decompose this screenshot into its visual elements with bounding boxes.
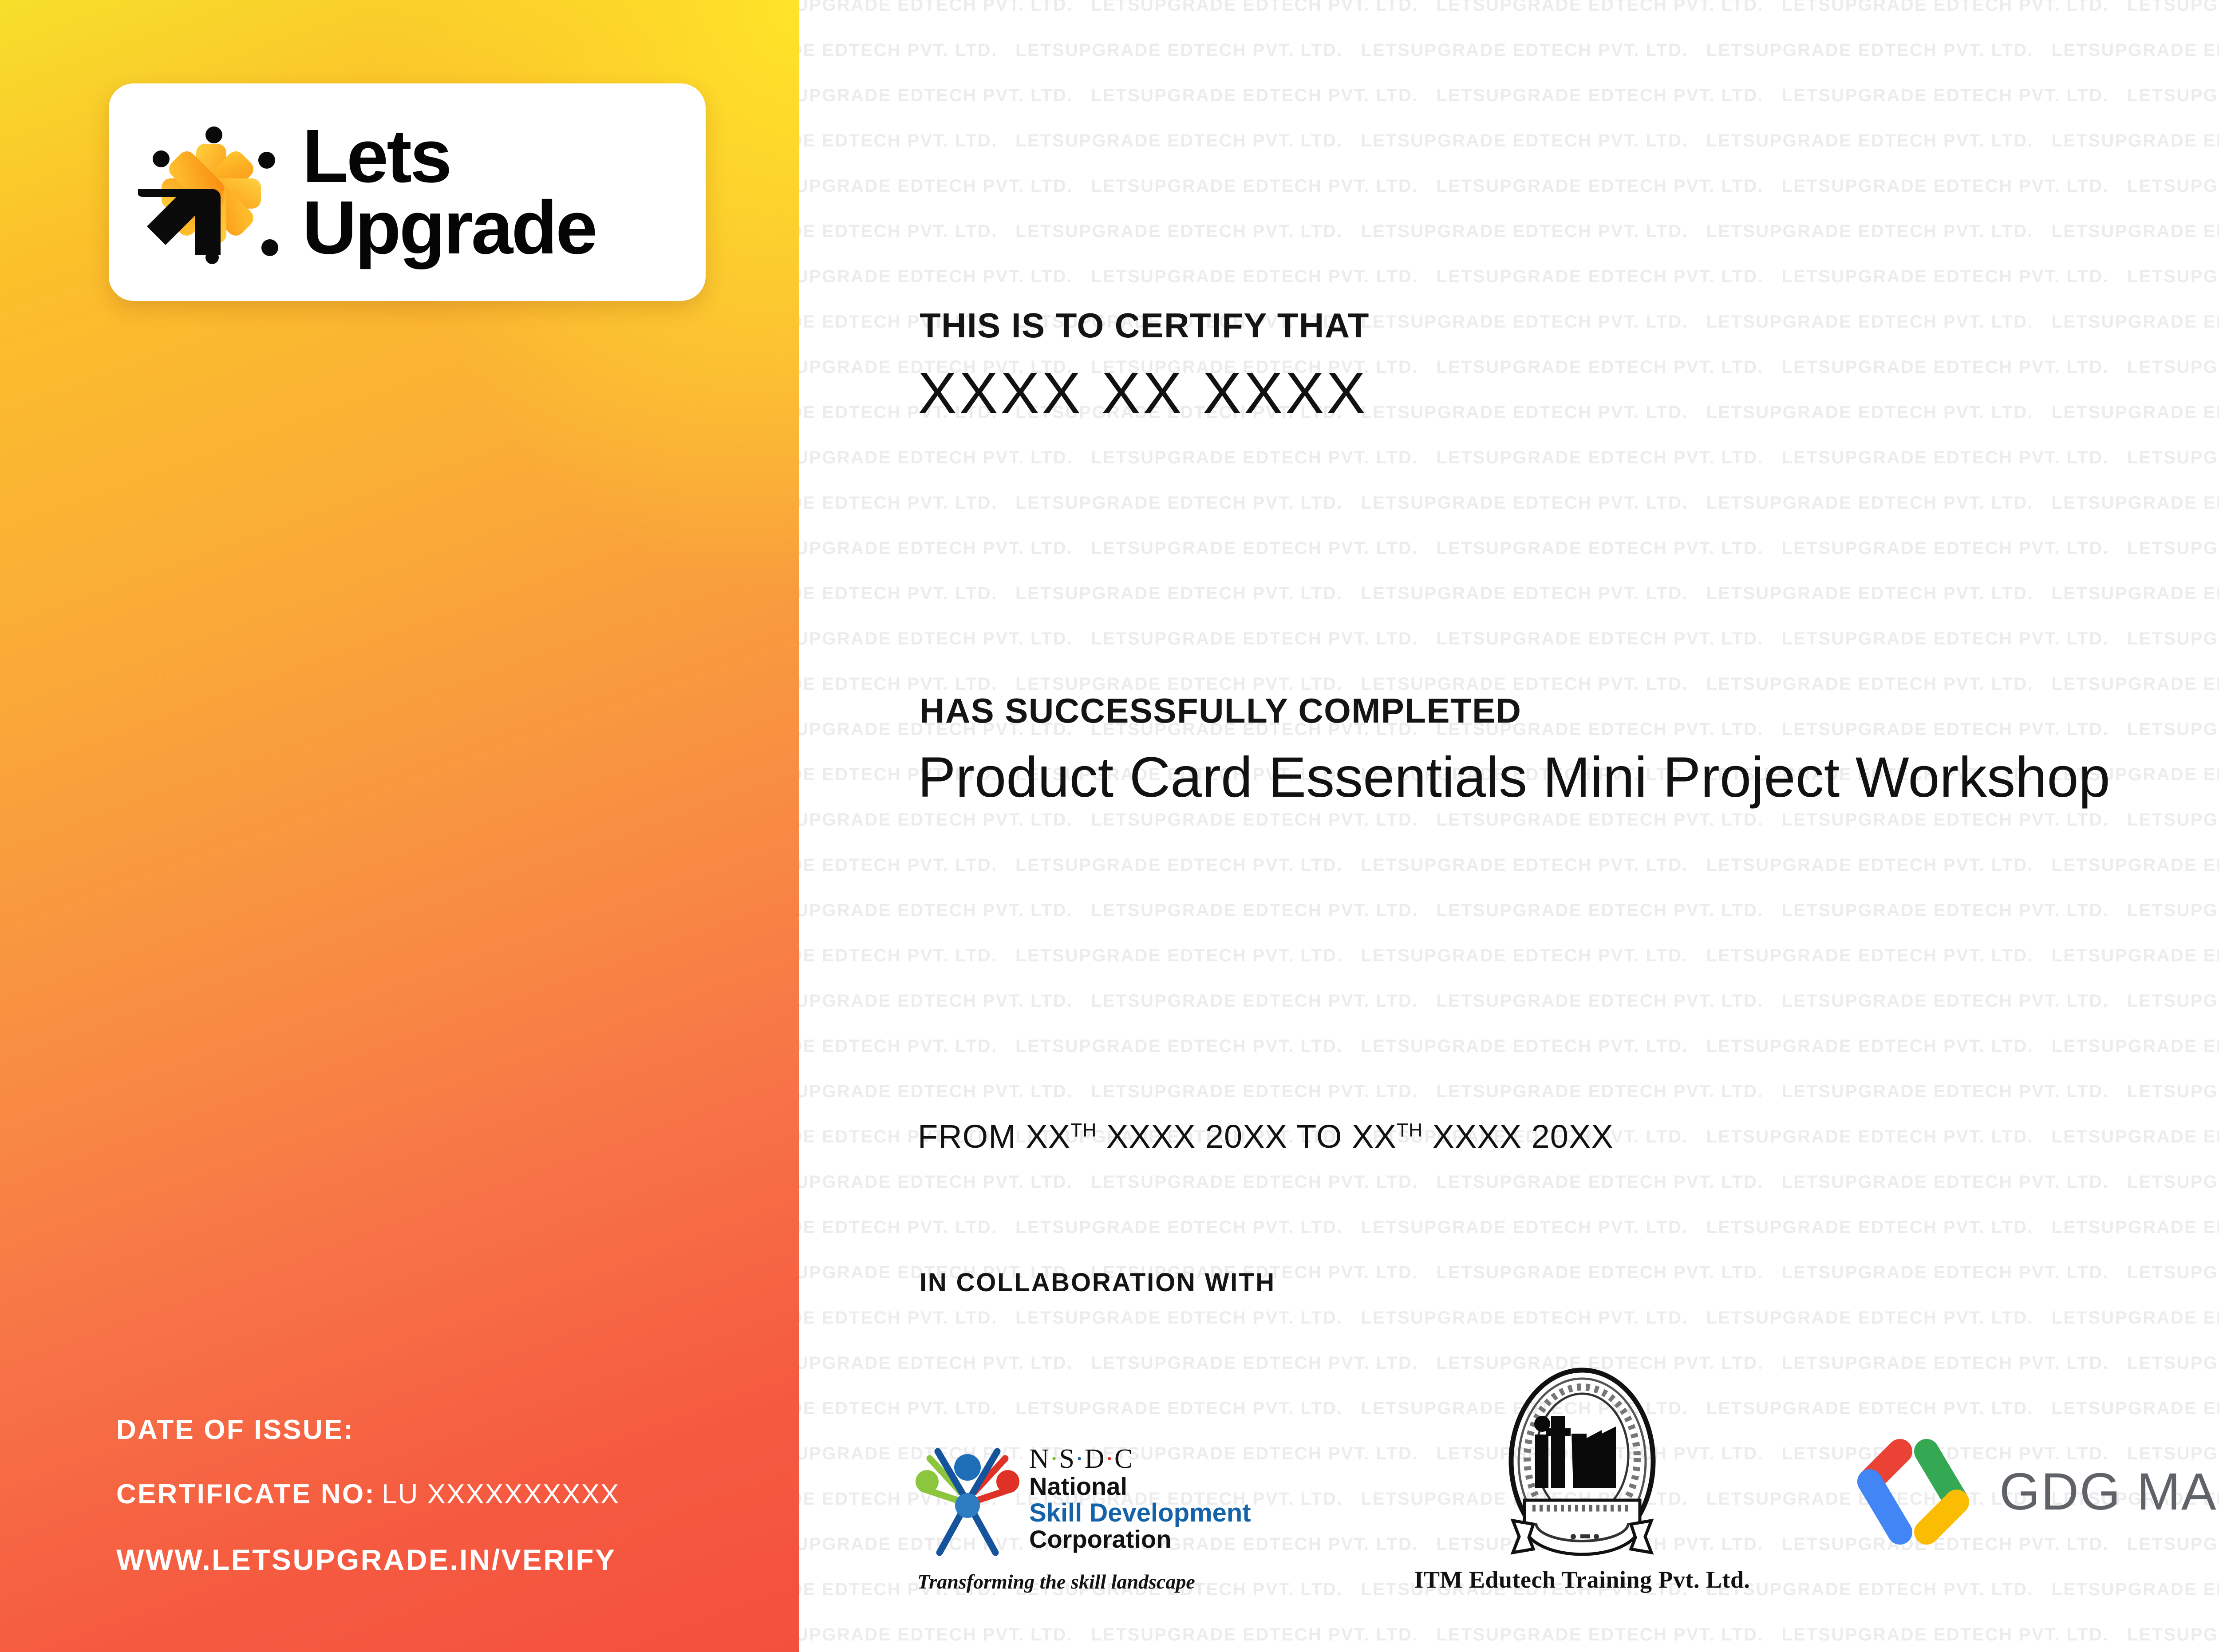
date-of-issue-row: DATE OF ISSUE: [116,1414,620,1446]
itm-name: ITM Edutech Training Pvt. Ltd. [1414,1566,1750,1593]
partner-logo-strip: N·S·D·C National Skill Development Corpo… [912,1327,2219,1593]
watermark-line: LETSUPGRADE EDTECH PVT. LTD. LETSUPGRADE… [799,1024,2219,1069]
nsdc-acronym: N·S·D·C [1029,1445,1251,1474]
watermark-line: LETSUPGRADE EDTECH PVT. LTD. LETSUPGRADE… [799,1069,2219,1114]
watermark-line: LETSUPGRADE EDTECH PVT. LTD. LETSUPGRADE… [799,480,2219,526]
watermark-line: LETSUPGRADE EDTECH PVT. LTD. LETSUPGRADE… [799,1612,2219,1652]
partner-logo-itm: ITM Edutech Training Pvt. Ltd. [1409,1367,1755,1593]
verify-url[interactable]: WWW.LETSUPGRADE.IN/VERIFY [116,1543,616,1576]
watermark-line: LETSUPGRADE EDTECH PVT. LTD. LETSUPGRADE… [799,616,2219,661]
date-range-from-ordinal: TH [1070,1119,1097,1141]
partner-logo-nsdc: N·S·D·C National Skill Development Corpo… [912,1435,1294,1593]
completed-label: HAS SUCCESSFULLY COMPLETED [920,691,1522,731]
course-title: Product Card Essentials Mini Project Wor… [918,744,2205,811]
date-range-separator: TO [1296,1118,1342,1155]
certificate-no-row: CERTIFICATE NO:LU XXXXXXXXXX [116,1478,620,1510]
partner-logo-gdg: GDG MAD [1844,1436,2219,1547]
date-range-to-year: 20XX [1532,1118,1614,1155]
recipient-name: XXXX XX XXXX [918,360,1368,427]
date-of-issue-label: DATE OF ISSUE: [116,1415,354,1445]
issue-details-block: DATE OF ISSUE: CERTIFICATE NO:LU XXXXXXX… [116,1414,620,1577]
nsdc-line1: National [1029,1474,1251,1500]
verify-url-row[interactable]: WWW.LETSUPGRADE.IN/VERIFY [116,1543,620,1577]
nsdc-people-icon [912,1435,1023,1562]
itm-seal-icon [1507,1367,1658,1558]
date-range-prefix: FROM [918,1118,1016,1155]
certificate-page: Lets Upgrade DATE OF ISSUE: CERTIFICATE … [0,0,2219,1652]
watermark-line: LETSUPGRADE EDTECH PVT. LTD. LETSUPGRADE… [799,254,2219,299]
date-range-from-month: XXXX [1106,1118,1196,1155]
watermark-line: LETSUPGRADE EDTECH PVT. LTD. LETSUPGRADE… [799,842,2219,888]
watermark-line: LETSUPGRADE EDTECH PVT. LTD. LETSUPGRADE… [799,933,2219,978]
watermark-line: LETSUPGRADE EDTECH PVT. LTD. LETSUPGRADE… [799,73,2219,118]
watermark-line: LETSUPGRADE EDTECH PVT. LTD. LETSUPGRADE… [799,209,2219,254]
date-range-to-ordinal: TH [1397,1119,1423,1141]
watermark-line: LETSUPGRADE EDTECH PVT. LTD. LETSUPGRADE… [799,163,2219,209]
watermark-line: LETSUPGRADE EDTECH PVT. LTD. LETSUPGRADE… [799,526,2219,571]
date-range-to-month: XXXX [1433,1118,1522,1155]
watermark-line: LETSUPGRADE EDTECH PVT. LTD. LETSUPGRADE… [799,571,2219,616]
certificate-no-label: CERTIFICATE NO: [116,1479,375,1510]
watermark-line: LETSUPGRADE EDTECH PVT. LTD. LETSUPGRADE… [799,1159,2219,1205]
date-range-from-year: 20XX [1205,1118,1287,1155]
certificate-body-panel: LETSUPGRADE EDTECH PVT. LTD. LETSUPGRADE… [799,0,2219,1652]
watermark-line: LETSUPGRADE EDTECH PVT. LTD. LETSUPGRADE… [799,118,2219,163]
nsdc-line2: Skill Development [1029,1500,1251,1527]
date-range-to-day: XX [1352,1118,1397,1155]
certificate-no-value: LU XXXXXXXXXX [382,1479,620,1510]
nsdc-line3: Corporation [1029,1526,1251,1553]
watermark-line: LETSUPGRADE EDTECH PVT. LTD. LETSUPGRADE… [799,28,2219,73]
collaboration-label: IN COLLABORATION WITH [920,1268,1275,1297]
gdg-chevrons-icon [1844,1436,1982,1547]
left-gradient-panel: Lets Upgrade DATE OF ISSUE: CERTIFICATE … [0,0,799,1652]
brand-wordmark-line1: Lets [302,121,596,193]
gdg-name: GDG MAD [1999,1462,2219,1522]
brand-wordmark-line2: Upgrade [302,192,596,264]
letsupgrade-asterisk-arrow-icon [138,119,284,265]
watermark-line: LETSUPGRADE EDTECH PVT. LTD. LETSUPGRADE… [799,888,2219,933]
watermark-line: LETSUPGRADE EDTECH PVT. LTD. LETSUPGRADE… [799,435,2219,480]
watermark-line: LETSUPGRADE EDTECH PVT. LTD. LETSUPGRADE… [799,978,2219,1024]
nsdc-tagline: Transforming the skill landscape [917,1570,1195,1593]
watermark-line: LETSUPGRADE EDTECH PVT. LTD. LETSUPGRADE… [799,1205,2219,1250]
certify-label: THIS IS TO CERTIFY THAT [920,305,1370,346]
date-range-from-day: XX [1026,1118,1070,1155]
brand-logo-card: Lets Upgrade [109,83,706,301]
brand-wordmark: Lets Upgrade [302,121,596,264]
watermark-line: LETSUPGRADE EDTECH PVT. LTD. LETSUPGRADE… [799,0,2219,28]
date-range: FROM XXTH XXXX 20XX TO XXTH XXXX 20XX [918,1118,1614,1155]
